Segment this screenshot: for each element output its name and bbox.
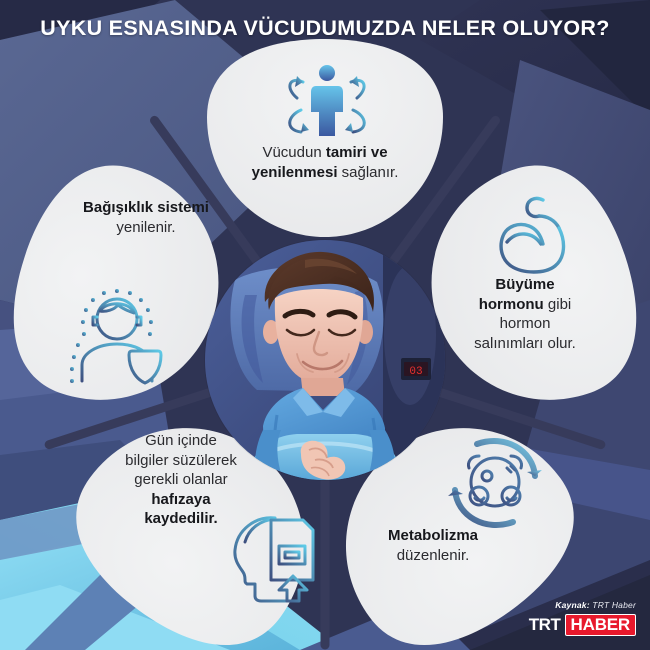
petal-left-normal: yenilenir. [116, 219, 175, 236]
source-label: Kaynak: [555, 600, 589, 610]
petal-text-top: Vücudun tamiri ve yenilenmesi sağlanır. [205, 143, 445, 182]
metabolism-scale-arrows-icon [441, 428, 549, 536]
petal-top-line2-normal: sağlanır. [342, 164, 399, 181]
petal-top-line2-bold: yenilenmesi [252, 164, 342, 181]
svg-text:03: 03 [409, 366, 422, 378]
petal-text-right: Büyüme hormonu gibi hormon salınımları o… [440, 275, 610, 353]
petal-bl-line3: gerekli olanlar [134, 471, 227, 488]
petal-right-line4-normal: salınımları olur. [474, 335, 576, 352]
petal-left-bold: Bağışıklık sistemi [83, 199, 209, 216]
petal-bl-line2: bilgiler süzülerek [125, 452, 237, 469]
page-title: UYKU ESNASINDA VÜCUDUMUZDA NELER OLUYOR? [40, 16, 609, 41]
trt-haber-logo: TRT HABER [529, 614, 636, 636]
petal-text-bottom-right: Metabolizma düzenlenir. [338, 526, 528, 565]
source-credit: Kaynak: TRT Haber [555, 600, 636, 610]
petal-bl-line5-bold: kaydedilir. [144, 510, 217, 527]
person-shield-immunity-icon [62, 277, 180, 389]
petal-right-line2-normal: gibi [548, 296, 571, 313]
infographic-root: UYKU ESNASINDA VÜCUDUMUZDA NELER OLUYOR? [0, 0, 650, 650]
person-repair-arrows-icon [277, 60, 377, 142]
petal-bl-line1: Gün içinde [145, 432, 217, 449]
logo-haber-text: HABER [565, 614, 636, 637]
petal-br-normal: düzenlenir. [397, 547, 470, 564]
source-value: TRT Haber [590, 600, 636, 610]
title-bar: UYKU ESNASINDA VÜCUDUMUZDA NELER OLUYOR? [0, 0, 650, 56]
flexed-bicep-icon [487, 186, 583, 282]
petal-text-bottom-left: Gün içinde bilgiler süzülerek gerekli ol… [75, 431, 287, 529]
petal-right-line3-normal: hormon [500, 315, 551, 332]
petal-right-line1-bold: Büyüme [495, 276, 554, 293]
petal-right-line2-bold: hormonu [479, 296, 548, 313]
petal-bl-line4-bold: hafızaya [151, 491, 210, 508]
petal-br-bold: Metabolizma [388, 527, 478, 544]
petal-top-line1-bold: tamiri ve [326, 144, 388, 161]
logo-trt-text: TRT [529, 615, 565, 635]
petal-text-left: Bağışıklık sistemi yenilenir. [58, 198, 234, 237]
petal-top-line1-normal: Vücudun [262, 144, 325, 161]
